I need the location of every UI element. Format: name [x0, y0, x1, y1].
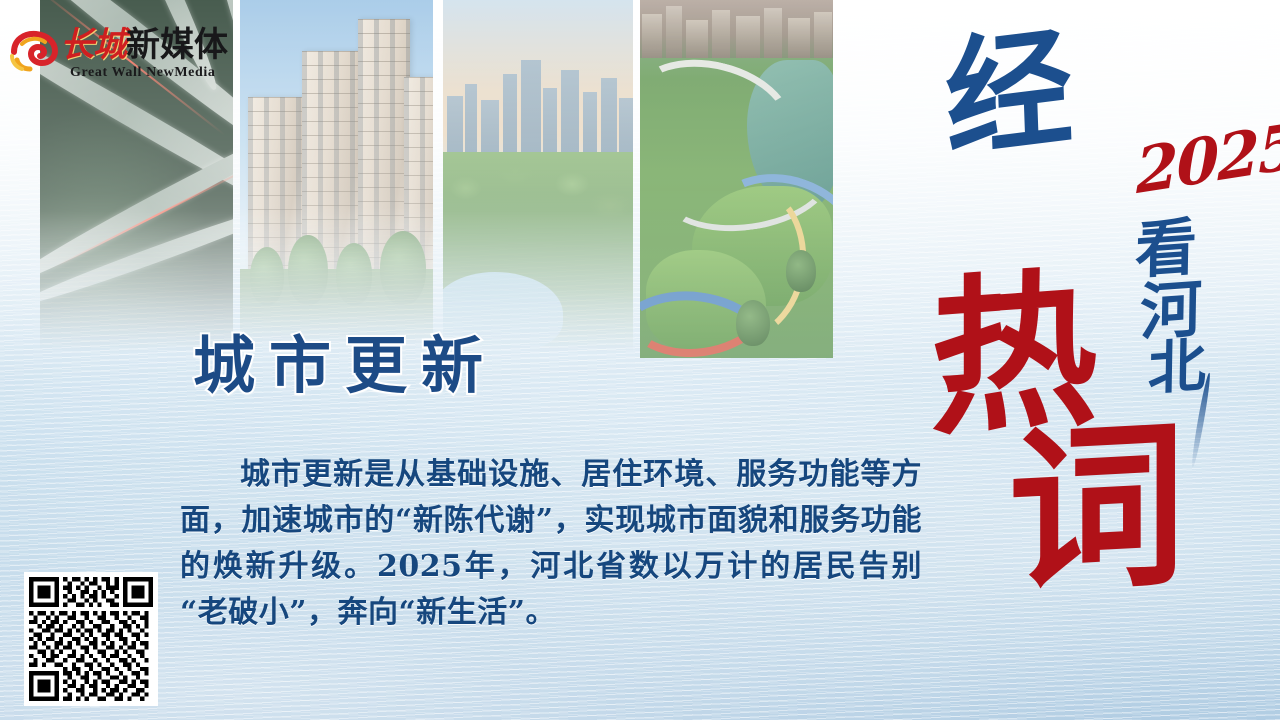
photo-fade-veil: [443, 0, 633, 352]
logo-wordmark: 长城新媒体: [60, 26, 228, 64]
site-logo[interactable]: 长城新媒体 Great Wall NewMedia: [8, 26, 223, 84]
logo-wordmark-black: 新媒体: [126, 25, 228, 65]
photo-city-skyline-park: [443, 0, 633, 352]
logo-english-tagline: Great Wall NewMedia: [70, 65, 215, 81]
logo-wordmark-red: 长城: [60, 25, 126, 65]
poster-canvas: 长城新媒体 Great Wall NewMedia 城市更新 城市更新是从基础设…: [0, 0, 1280, 720]
photo-fade-veil: [640, 0, 833, 358]
qr-code-image: [29, 577, 153, 701]
qr-code[interactable]: [24, 572, 158, 706]
calligraphy-year: 2025: [1135, 115, 1280, 203]
page-title: 城市更新: [193, 330, 497, 402]
calligraphy-ci: 词: [1008, 415, 1186, 603]
great-wall-swirl-logo-icon: [8, 30, 60, 74]
photo-landscaped-park-trails: [640, 0, 833, 358]
calligraphy-bei: 北: [1148, 336, 1207, 398]
calligraphy-jing: 经: [943, 22, 1075, 166]
photo-residential-high-rise: [240, 0, 433, 345]
body-paragraph: 城市更新是从基础设施、居住环境、服务功能等方面，加速城市的“新陈代谢”，实现城市…: [180, 452, 922, 636]
campaign-calligraphy-lockup: 经 2025 看 河 北 热 词: [930, 0, 1280, 660]
photo-fade-veil: [240, 0, 433, 345]
